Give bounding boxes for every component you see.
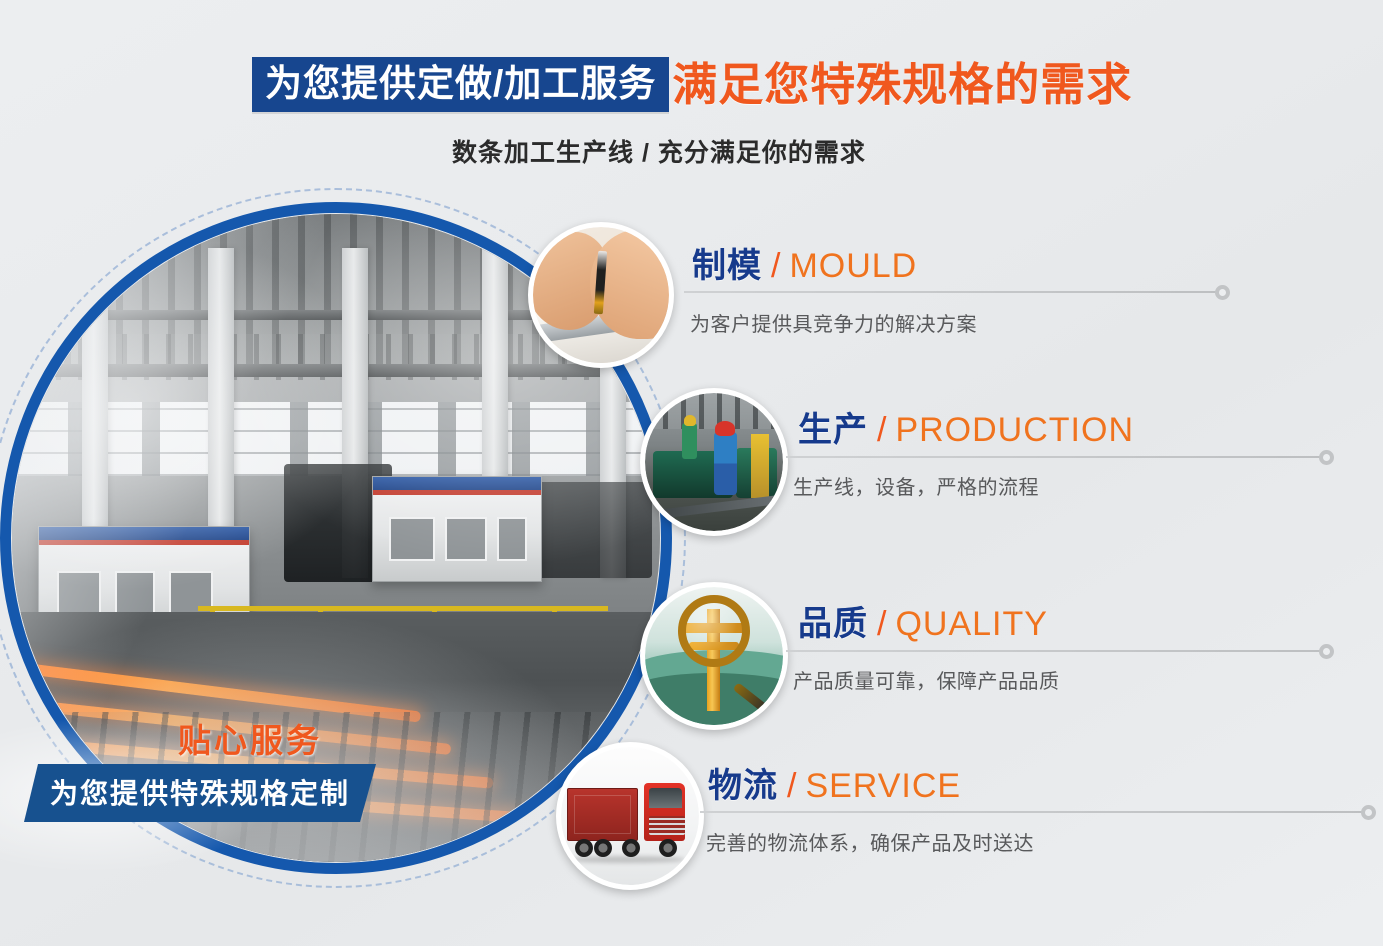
title-headline: 满足您特殊规格的需求 [672,62,1132,107]
service-thumbnail [556,742,704,890]
quality-divider [786,650,1326,652]
title-badge: 为您提供定做/加工服务 [252,57,669,112]
production-slash: / [877,411,886,450]
mould-thumbnail [528,222,674,368]
production-endpoint-dot [1319,450,1334,465]
mould-cn-label: 制模 [692,238,762,287]
magnifier-inspection-icon [645,587,783,725]
mould-heading: 制模 / MOULD [692,238,917,287]
quality-en-label: QUALITY [895,605,1047,644]
service-banner: 为您提供特殊规格定制 [24,764,376,822]
mould-en-label: MOULD [789,247,917,286]
service-title: 贴心服务 [178,714,322,762]
mould-endpoint-dot [1215,285,1230,300]
red-truck-icon [561,747,699,885]
quality-description: 产品质量可靠，保障产品品质 [793,665,1060,694]
service-en-label: SERVICE [805,767,961,806]
production-cn-label: 生产 [798,402,868,451]
service-slash: / [787,767,796,806]
drafting-hands-icon [533,227,669,363]
mould-description: 为客户提供具竞争力的解决方案 [690,308,977,337]
quality-heading: 品质 / QUALITY [798,596,1048,645]
service-cn-label: 物流 [708,758,778,807]
production-description: 生产线，设备，严格的流程 [793,471,1039,500]
quality-endpoint-dot [1319,644,1334,659]
production-divider [786,456,1326,458]
mould-divider [684,291,1222,293]
header: 为您提供定做/加工服务 满足您特殊规格的需求 数条加工生产线 / 充分满足你的需… [0,0,1383,190]
service-heading: 物流 / SERVICE [708,758,961,807]
quality-slash: / [877,605,886,644]
page-subtitle: 数条加工生产线 / 充分满足你的需求 [452,133,866,169]
quality-thumbnail [640,582,788,730]
production-heading: 生产 / PRODUCTION [798,402,1134,451]
service-divider [700,811,1368,813]
mould-slash: / [771,247,780,286]
main-title-row: 为您提供定做/加工服务 满足您特殊规格的需求 [252,57,1132,112]
production-thumbnail [640,388,788,536]
factory-worker-icon [645,393,783,531]
quality-cn-label: 品质 [798,596,868,645]
service-endpoint-dot [1361,805,1376,820]
service-description: 完善的物流体系，确保产品及时送达 [706,827,1034,856]
production-en-label: PRODUCTION [895,411,1134,450]
